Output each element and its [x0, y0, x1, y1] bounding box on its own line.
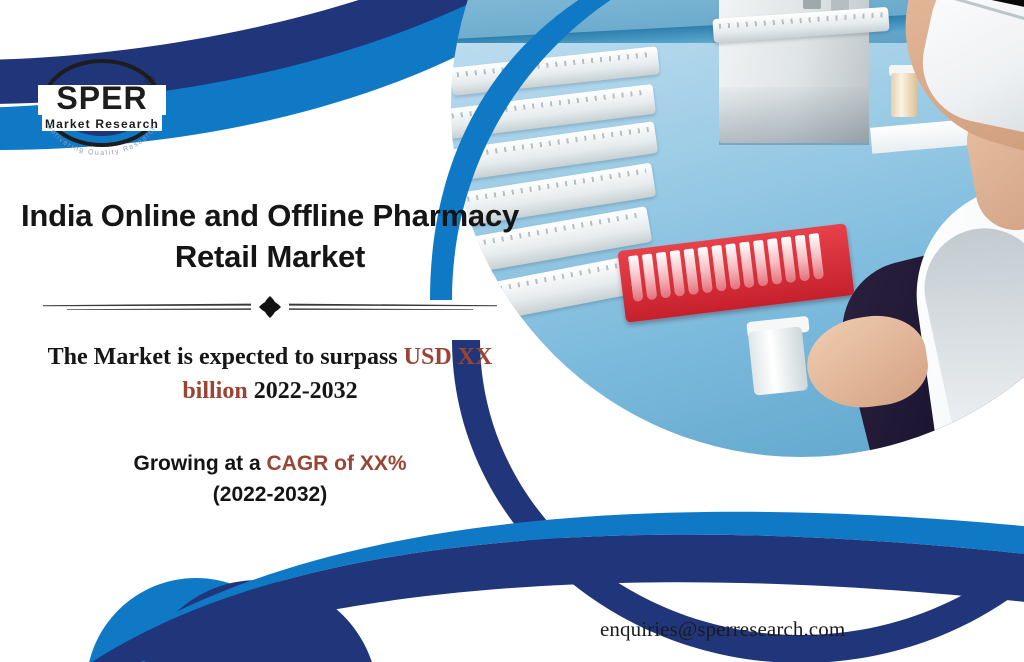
test-tube	[670, 250, 686, 297]
divider-svg	[39, 296, 501, 318]
test-tube	[711, 245, 727, 292]
test-tube	[725, 243, 741, 290]
logo-primary-text: SPER	[56, 80, 147, 116]
test-tube	[795, 235, 811, 282]
forecast-prefix: The Market is expected to surpass	[48, 344, 404, 370]
divider-rule-left-lower	[67, 308, 251, 310]
held-pill-bottle	[748, 326, 808, 395]
title-line-2: Retail Market	[18, 237, 522, 278]
circle-navy	[138, 580, 378, 662]
bottom-left-circles	[86, 578, 378, 662]
cagr-prefix: Growing at a	[133, 452, 266, 475]
pill-bottle	[891, 73, 917, 117]
title-line-1: India Online and Offline Pharmacy	[18, 196, 522, 237]
contact-email[interactable]: enquiries@sperresearch.com	[600, 617, 845, 642]
divider-rule-right-lower	[289, 308, 473, 310]
cagr-period: (2022-2032)	[0, 479, 540, 511]
page-title: India Online and Offline Pharmacy Retail…	[0, 196, 540, 278]
logo-trademark-symbol: ®	[145, 73, 155, 88]
test-tube	[809, 233, 825, 280]
test-tube	[739, 242, 755, 289]
logo-secondary-text: Market Research	[45, 117, 159, 131]
forecast-period: 2022-2032	[254, 378, 358, 404]
divider-rule-left-upper	[43, 303, 251, 306]
cagr-highlight: CAGR of XX%	[267, 452, 407, 475]
machine-panel	[803, 0, 821, 9]
logo-svg: SPER ® Market Research Delivering Qualit…	[18, 55, 186, 155]
decorative-divider	[39, 296, 501, 318]
bottom-swoosh-light	[92, 512, 1024, 662]
cagr-line-1: Growing at a CAGR of XX%	[0, 448, 540, 480]
test-tube	[753, 240, 769, 287]
test-tube	[781, 236, 797, 283]
circle-light-blue	[86, 578, 306, 662]
test-tube	[697, 247, 713, 294]
cagr-statement: Growing at a CAGR of XX% (2022-2032)	[0, 448, 540, 511]
forecast-currency: USD	[404, 344, 452, 370]
test-tube	[656, 252, 672, 299]
bottom-swoosh-navy	[92, 535, 1024, 662]
machine-shadow	[719, 87, 869, 145]
test-tube	[684, 248, 700, 295]
headline-block: India Online and Offline Pharmacy Retail…	[0, 196, 540, 511]
sper-market-research-logo[interactable]: SPER ® Market Research Delivering Qualit…	[18, 55, 186, 155]
quatrefoil-ornament	[259, 296, 281, 318]
test-tube	[767, 238, 783, 285]
marketing-banner: SPER ® Market Research Delivering Qualit…	[0, 0, 1024, 662]
forecast-statement: The Market is expected to surpass USD XX…	[0, 340, 540, 408]
test-tube	[642, 253, 658, 300]
divider-rule-right-upper	[289, 303, 497, 306]
